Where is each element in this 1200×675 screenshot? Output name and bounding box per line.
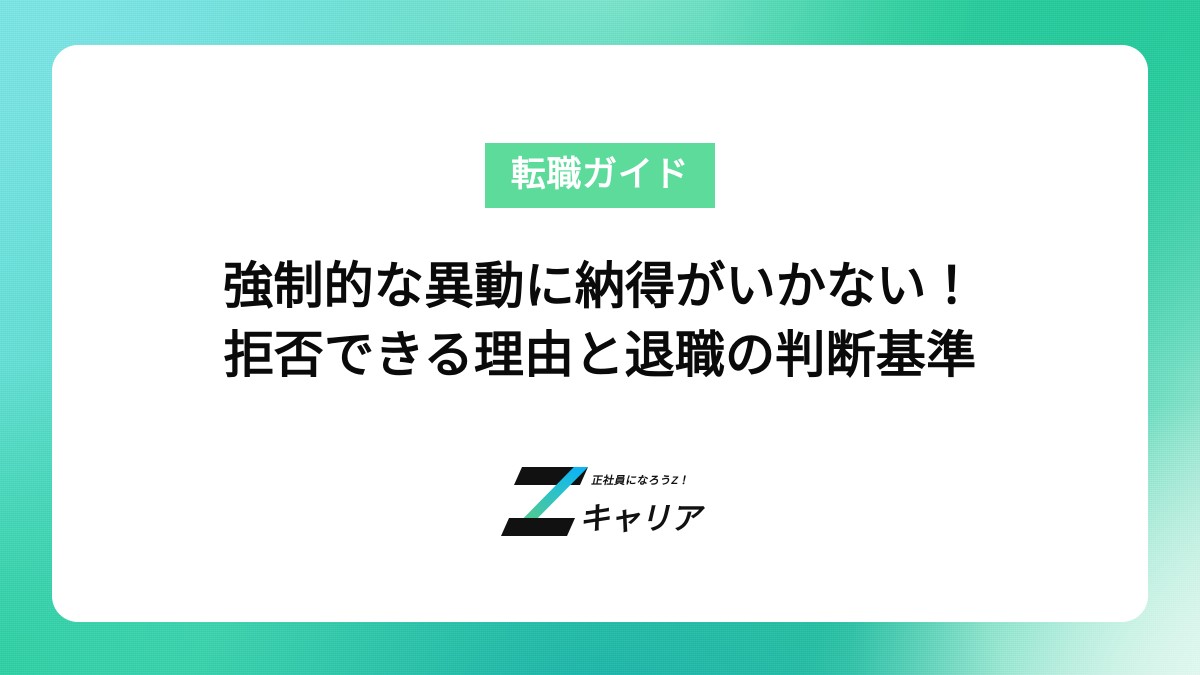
page-title-line-1: 強制的な異動に納得がいかない！	[223, 252, 977, 321]
logo-tagline: 正社員になろうZ！	[590, 473, 691, 487]
svg-text:正社員になろうZ！: 正社員になろうZ！	[590, 473, 691, 487]
brand-logo-artwork: 正社員になろうZ！ キャリア	[495, 450, 705, 540]
brand-logo: 正社員になろうZ！ キャリア	[495, 450, 705, 540]
svg-text:キャリア: キャリア	[577, 501, 705, 536]
content-card: 転職ガイド 強制的な異動に納得がいかない！ 拒否できる理由と退職の判断基準	[52, 45, 1148, 622]
page-title-line-2: 拒否できる理由と退職の判断基準	[223, 321, 977, 390]
logo-z-mark	[501, 467, 588, 536]
ogp-canvas: 転職ガイド 強制的な異動に納得がいかない！ 拒否できる理由と退職の判断基準	[0, 0, 1200, 675]
page-title: 強制的な異動に納得がいかない！ 拒否できる理由と退職の判断基準	[223, 252, 977, 390]
category-badge: 転職ガイド	[485, 143, 716, 208]
logo-brand-name: キャリア	[577, 501, 705, 536]
